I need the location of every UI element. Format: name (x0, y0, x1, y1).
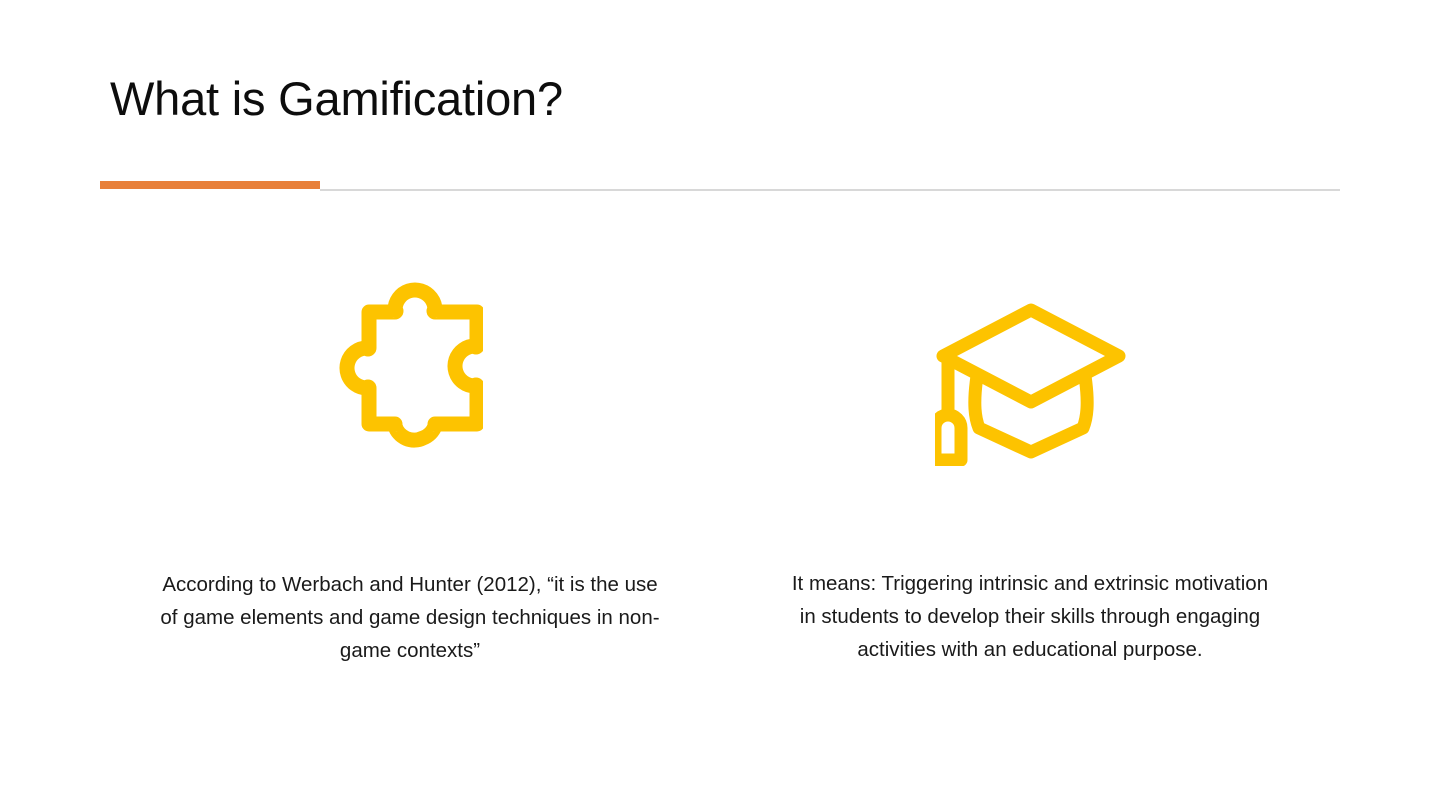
icon-container-right (933, 280, 1127, 490)
content-columns: According to Werbach and Hunter (2012), … (100, 280, 1340, 710)
icon-container-left (337, 280, 483, 490)
divider-rule-line (320, 189, 1340, 191)
page-title: What is Gamification? (110, 72, 1310, 127)
column-text-left: According to Werbach and Hunter (2012), … (160, 568, 660, 667)
content-column-right: It means: Triggering intrinsic and extri… (720, 280, 1340, 710)
title-divider (100, 181, 1340, 191)
divider-accent-bar (100, 181, 320, 189)
slide: What is Gamification? According to Werba… (0, 0, 1440, 810)
graduation-cap-icon (935, 300, 1127, 466)
content-column-left: According to Werbach and Hunter (2012), … (100, 280, 720, 710)
column-text-right: It means: Triggering intrinsic and extri… (790, 567, 1270, 666)
puzzle-piece-icon (331, 280, 483, 456)
